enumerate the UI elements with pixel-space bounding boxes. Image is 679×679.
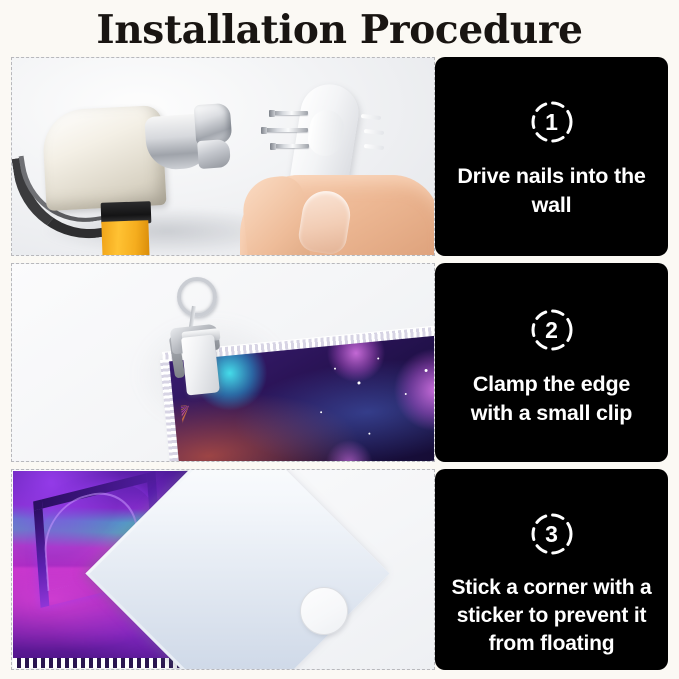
star <box>377 357 379 359</box>
step-text-2: Clamp the edge with a small clip <box>449 370 654 428</box>
hammer-orange-handle <box>101 220 149 256</box>
star <box>424 369 427 372</box>
clip-body <box>181 334 220 395</box>
step-number-3: 3 <box>529 511 575 557</box>
step-card-3: 3 Stick a corner with a sticker to preve… <box>435 469 668 670</box>
adhesive-sticker <box>300 587 348 635</box>
folded-corner-sticker-photo <box>11 469 435 670</box>
nail-icon <box>272 111 308 115</box>
step-number-2: 2 <box>529 307 575 353</box>
installation-procedure-page: Installation Procedure <box>0 0 679 679</box>
page-title: Installation Procedure <box>0 7 679 53</box>
palm-frond-graphic <box>180 383 329 462</box>
step-card-2: 2 Clamp the edge with a small clip <box>435 263 668 462</box>
step-row-2: 2 Clamp the edge with a small clip <box>11 263 668 462</box>
step-card-1: 1 Drive nails into the wall <box>435 57 668 256</box>
hammer-head <box>194 103 233 145</box>
step-text-3: Stick a corner with a sticker to prevent… <box>444 574 659 658</box>
star <box>405 393 407 395</box>
nail-head-icon <box>269 110 275 117</box>
step-badge-1: 1 <box>529 99 575 145</box>
step-row-3: 3 Stick a corner with a sticker to preve… <box>11 469 668 670</box>
nail-icon <box>273 144 309 148</box>
step-text-1: Drive nails into the wall <box>449 162 654 220</box>
nail-icon <box>264 128 308 132</box>
step-badge-2: 2 <box>529 307 575 353</box>
star <box>334 368 336 370</box>
hammer-head-lower <box>197 139 231 169</box>
nail-head-icon <box>261 127 267 134</box>
step-row-1: 1 Drive nails into the wall <box>11 57 668 256</box>
clip-on-tapestry-photo <box>11 263 435 462</box>
star <box>320 411 322 413</box>
star <box>357 381 360 384</box>
clip-ring-icon <box>177 277 217 317</box>
step-badge-3: 3 <box>529 511 575 557</box>
hammer-and-nails-photo <box>11 57 435 256</box>
step-number-1: 1 <box>529 99 575 145</box>
nail-head-icon <box>270 143 276 150</box>
star <box>368 433 370 435</box>
